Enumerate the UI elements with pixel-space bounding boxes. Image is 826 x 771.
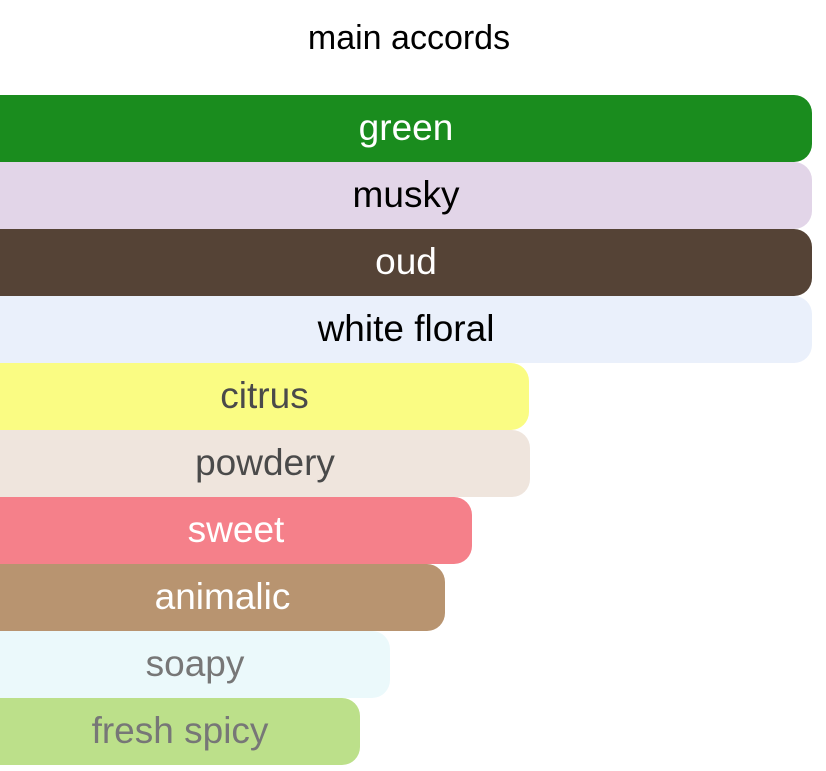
accord-bar-label: fresh spicy xyxy=(92,709,269,755)
accord-bar[interactable]: powdery xyxy=(0,430,530,497)
accord-bar-label: citrus xyxy=(220,374,308,420)
accord-bar-label: animalic xyxy=(155,575,291,621)
accord-bar-label: musky xyxy=(353,173,460,219)
accord-bar[interactable]: animalic xyxy=(0,564,445,631)
accord-bar[interactable]: citrus xyxy=(0,363,529,430)
accord-bar[interactable]: fresh spicy xyxy=(0,698,360,765)
accord-bar-label: oud xyxy=(375,240,437,286)
accord-bar-label: green xyxy=(359,106,454,152)
accord-bar[interactable]: green xyxy=(0,95,812,162)
accord-bar[interactable]: sweet xyxy=(0,497,472,564)
main-accords-widget: main accords greenmuskyoudwhite floralci… xyxy=(0,0,826,771)
accord-bar-list: greenmuskyoudwhite floralcitruspowderysw… xyxy=(0,95,826,765)
accord-bar-label: soapy xyxy=(146,642,245,688)
accord-bar[interactable]: oud xyxy=(0,229,812,296)
accord-bar[interactable]: soapy xyxy=(0,631,390,698)
accord-bar-label: white floral xyxy=(318,307,495,353)
accord-bar[interactable]: white floral xyxy=(0,296,812,363)
accord-bar-label: sweet xyxy=(188,508,285,554)
accord-bar-label: powdery xyxy=(195,441,335,487)
page-title: main accords xyxy=(0,18,818,58)
accord-bar[interactable]: musky xyxy=(0,162,812,229)
